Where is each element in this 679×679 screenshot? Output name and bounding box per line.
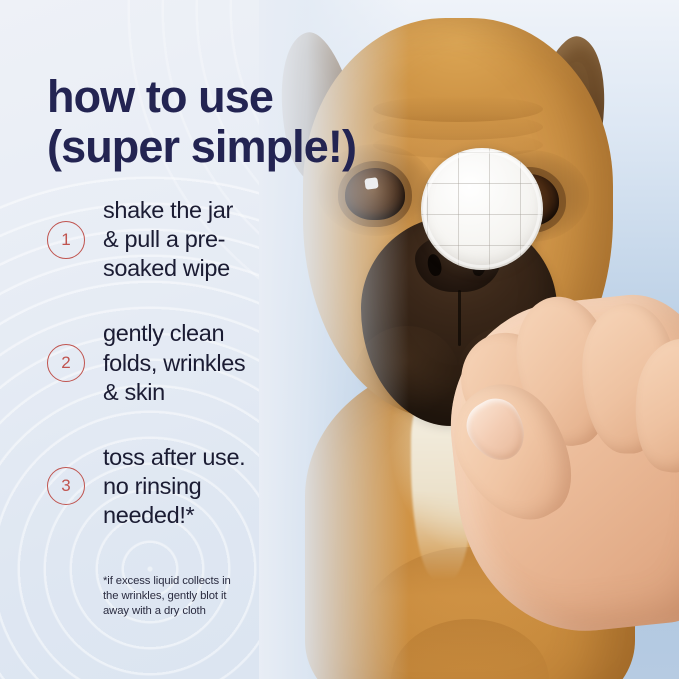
step-item-3: 3 toss after use. no rinsing needed!* [47,443,307,530]
steps-list: 1 shake the jar & pull a pre- soaked wip… [47,196,307,530]
dog-left-eye [345,168,405,220]
step-item-1: 1 shake the jar & pull a pre- soaked wip… [47,196,307,283]
page-title: how to use (super simple!) [47,72,517,171]
step-text-2: gently clean folds, wrinkles & skin [103,319,245,406]
how-to-use-infographic: how to use (super simple!) 1 shake the j… [0,0,679,679]
step-number-badge-1: 1 [47,221,85,259]
step-text-3: toss after use. no rinsing needed!* [103,443,245,530]
dog-lip-line [458,290,461,346]
step-number-badge-2: 2 [47,344,85,382]
thumbnail [458,390,536,471]
dog-jowl-left [355,326,459,422]
footnote-disclaimer: *if excess liquid collects in the wrinkl… [103,574,293,619]
step-text-1: shake the jar & pull a pre- soaked wipe [103,196,233,283]
step-item-2: 2 gently clean folds, wrinkles & skin [47,319,307,406]
step-number-badge-3: 3 [47,467,85,505]
